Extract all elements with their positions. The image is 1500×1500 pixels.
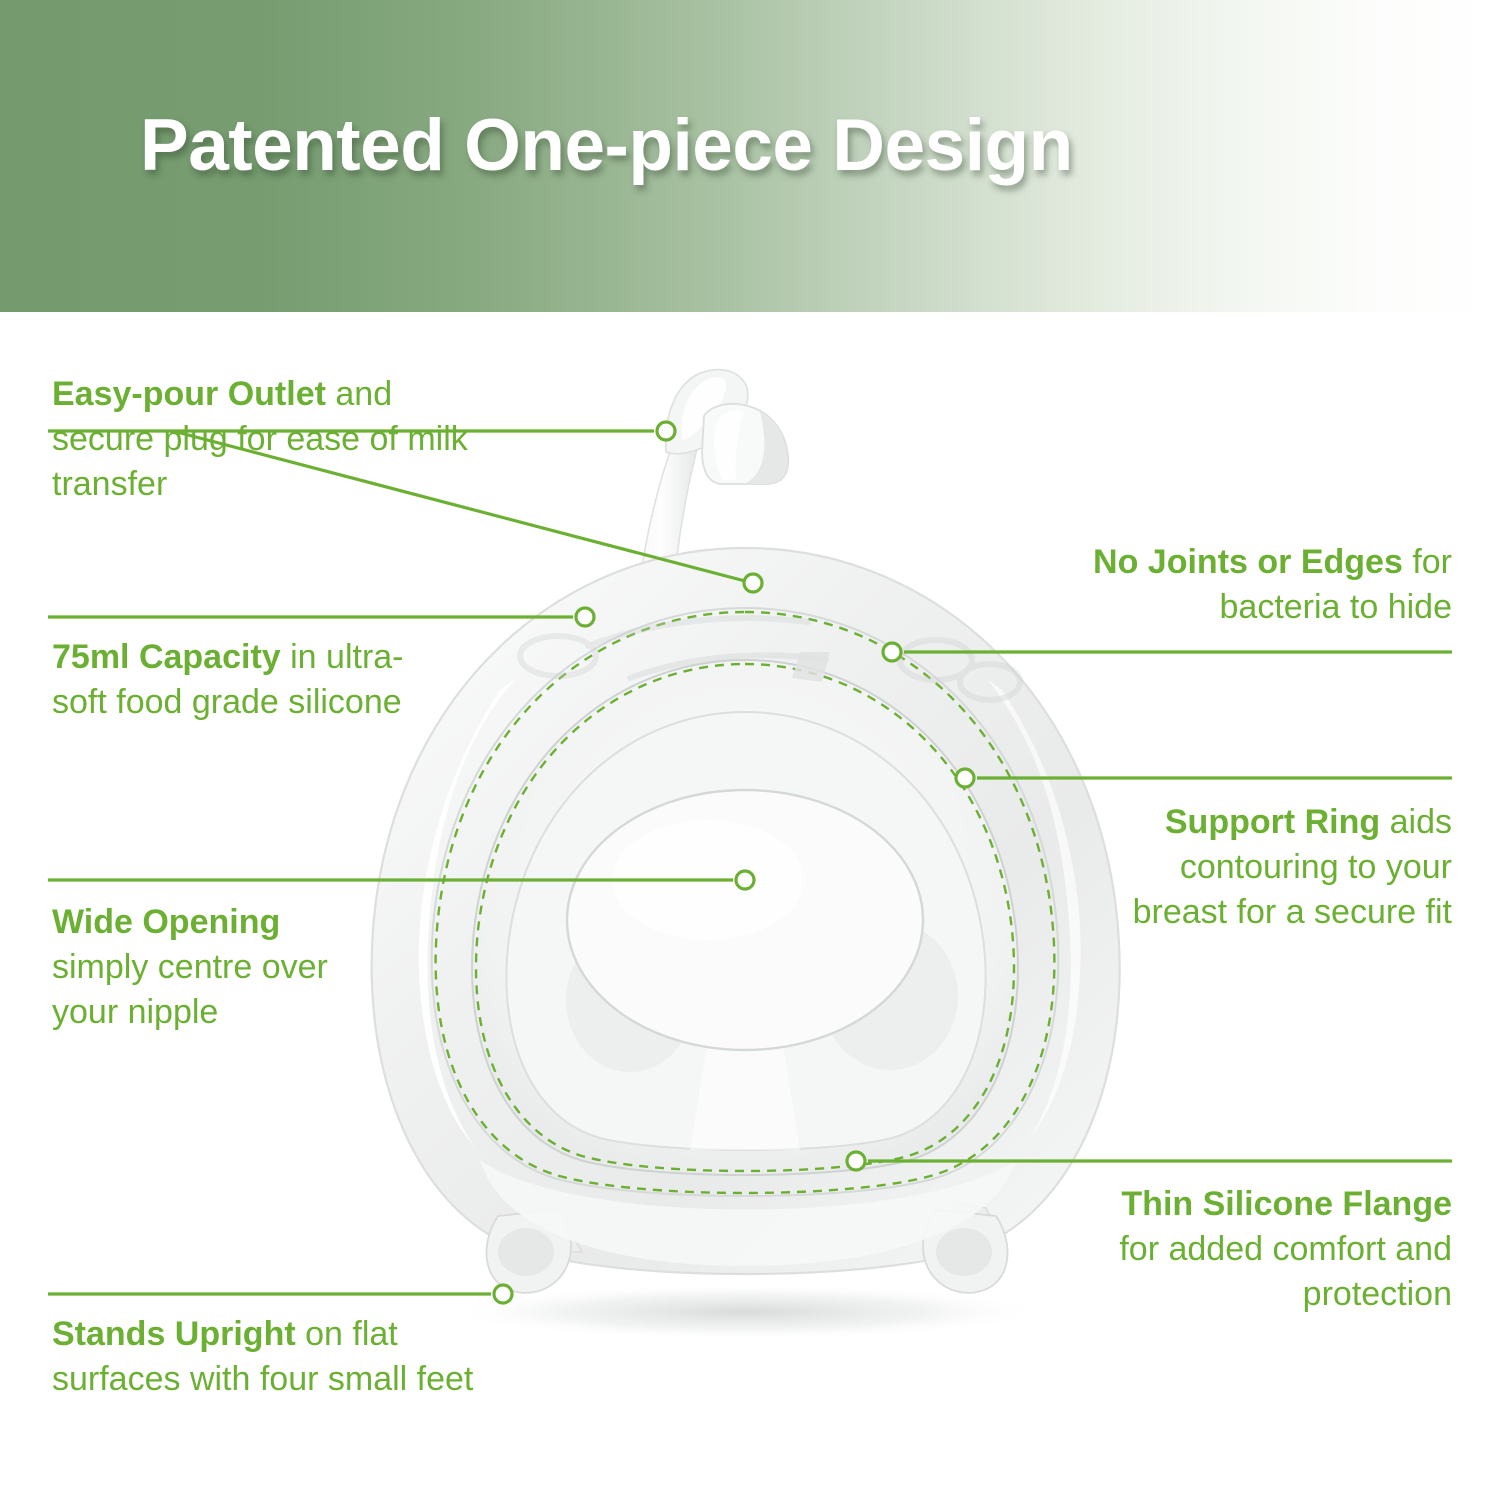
header-banner: Patented One-piece Design [0,0,1500,312]
callout-wide-opening-body: simply centre over your nipple [52,948,328,1031]
callout-stands-upright: Stands Upright on flat surfaces with fou… [52,1312,482,1402]
callout-stands-upright-title: Stands Upright [52,1315,296,1353]
callout-easy-pour-outlet: Easy-pour Outlet and secure plug for eas… [52,372,482,507]
callout-wide-opening: Wide Opening simply centre over your nip… [52,900,382,1035]
callout-support-ring-title: Support Ring [1165,803,1380,841]
callout-easy-pour-outlet-title: Easy-pour Outlet [52,375,326,413]
infographic-page: Patented One-piece Design [0,0,1500,1500]
callout-thin-silicone-flange-body: for added comfort and protection [1119,1230,1452,1313]
callout-capacity-title: 75ml Capacity [52,638,281,676]
foot-front-right-highlight [936,1228,992,1276]
callout-no-joints-or-edges-title: No Joints or Edges [1093,543,1403,581]
product-illustration [330,360,1160,1350]
foot-front-left-highlight [498,1228,554,1276]
nipple-opening-highlight [612,820,804,940]
callout-capacity: 75ml Capacity in ultra-soft food grade s… [52,635,452,725]
callout-no-joints-or-edges: No Joints or Edges for bacteria to hide [972,540,1452,630]
callout-wide-opening-title: Wide Opening [52,903,280,941]
callout-support-ring: Support Ring aids contouring to your bre… [1092,800,1452,935]
callout-thin-silicone-flange-title: Thin Silicone Flange [1121,1185,1452,1223]
callout-thin-silicone-flange: Thin Silicone Flange for added comfort a… [1082,1182,1452,1317]
page-title: Patented One-piece Design [140,104,1073,187]
